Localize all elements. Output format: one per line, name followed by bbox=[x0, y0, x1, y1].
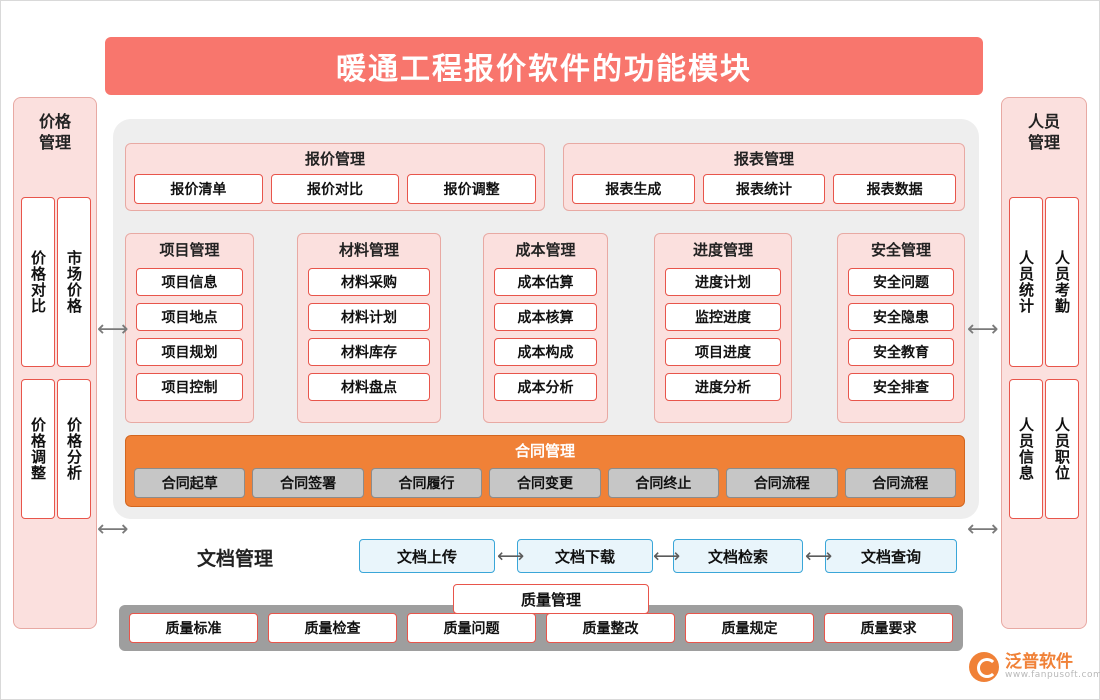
node-schedule-analysis[interactable]: 进度分析 bbox=[665, 373, 781, 401]
group-title: 进度管理 bbox=[655, 234, 791, 260]
page-title: 暖通工程报价软件的功能模块 bbox=[105, 37, 983, 95]
arrow-doc-1-icon: ⟷ bbox=[497, 547, 524, 566]
node-contract-flow-1[interactable]: 合同流程 bbox=[726, 468, 837, 498]
node-material-purchase[interactable]: 材料采购 bbox=[308, 268, 430, 296]
arrow-right-middle-icon: ⟷ bbox=[967, 319, 999, 341]
node-schedule-plan[interactable]: 进度计划 bbox=[665, 268, 781, 296]
node-document-upload[interactable]: 文档上传 bbox=[359, 539, 495, 573]
group-title: 合同管理 bbox=[126, 436, 964, 461]
node-safety-issue[interactable]: 安全问题 bbox=[848, 268, 954, 296]
group-title: 项目管理 bbox=[126, 234, 253, 260]
node-project-info[interactable]: 项目信息 bbox=[136, 268, 243, 296]
node-contract-perform[interactable]: 合同履行 bbox=[371, 468, 482, 498]
node-contract-terminate[interactable]: 合同终止 bbox=[608, 468, 719, 498]
group-items: 合同起草 合同签署 合同履行 合同变更 合同终止 合同流程 合同流程 bbox=[134, 468, 956, 498]
diagram-canvas: 暖通工程报价软件的功能模块 报价管理 报价清单 报价对比 报价调整 报表管理 报… bbox=[0, 0, 1100, 700]
node-personnel-info[interactable]: 人员信息 bbox=[1009, 379, 1043, 519]
node-project-planning[interactable]: 项目规划 bbox=[136, 338, 243, 366]
node-material-plan[interactable]: 材料计划 bbox=[308, 303, 430, 331]
arrow-doc-3-icon: ⟷ bbox=[805, 547, 832, 566]
node-personnel-attendance[interactable]: 人员考勤 bbox=[1045, 197, 1079, 367]
price-management-title-line1: 价格 bbox=[17, 111, 93, 132]
group-items: 安全问题 安全隐患 安全教育 安全排查 bbox=[848, 268, 954, 401]
node-contract-flow-2[interactable]: 合同流程 bbox=[845, 468, 956, 498]
node-quote-list[interactable]: 报价清单 bbox=[134, 174, 263, 204]
node-safety-inspection[interactable]: 安全排查 bbox=[848, 373, 954, 401]
node-project-location[interactable]: 项目地点 bbox=[136, 303, 243, 331]
node-price-adjust[interactable]: 价格调整 bbox=[21, 379, 55, 519]
group-schedule-management: 进度管理 进度计划 监控进度 项目进度 进度分析 bbox=[654, 233, 792, 423]
logo-text: 泛普软件 www.fanpusoft.com bbox=[1005, 653, 1100, 682]
node-report-generate[interactable]: 报表生成 bbox=[572, 174, 695, 204]
group-title: 成本管理 bbox=[484, 234, 607, 260]
node-cost-estimate[interactable]: 成本估算 bbox=[494, 268, 597, 296]
group-items: 报价清单 报价对比 报价调整 bbox=[134, 174, 536, 204]
node-schedule-monitor[interactable]: 监控进度 bbox=[665, 303, 781, 331]
node-quality-rectify[interactable]: 质量整改 bbox=[546, 613, 675, 643]
node-quality-check[interactable]: 质量检查 bbox=[268, 613, 397, 643]
group-items: 项目信息 项目地点 项目规划 项目控制 bbox=[136, 268, 243, 401]
node-document-download[interactable]: 文档下载 bbox=[517, 539, 653, 573]
group-items: 成本估算 成本核算 成本构成 成本分析 bbox=[494, 268, 597, 401]
group-items: 报表生成 报表统计 报表数据 bbox=[572, 174, 956, 204]
node-safety-education[interactable]: 安全教育 bbox=[848, 338, 954, 366]
arrow-left-lower-icon: ⟷ bbox=[97, 519, 129, 541]
personnel-management-title-line1: 人员 bbox=[1005, 111, 1083, 132]
group-project-management: 项目管理 项目信息 项目地点 项目规划 项目控制 bbox=[125, 233, 254, 423]
node-material-stocktake[interactable]: 材料盘点 bbox=[308, 373, 430, 401]
personnel-management-title-line2: 管理 bbox=[1005, 132, 1083, 153]
node-cost-accounting[interactable]: 成本核算 bbox=[494, 303, 597, 331]
quality-management-title: 质量管理 bbox=[453, 584, 649, 614]
group-quote-management: 报价管理 报价清单 报价对比 报价调整 bbox=[125, 143, 545, 211]
node-report-data[interactable]: 报表数据 bbox=[833, 174, 956, 204]
node-cost-analysis[interactable]: 成本分析 bbox=[494, 373, 597, 401]
node-price-compare[interactable]: 价格对比 bbox=[21, 197, 55, 367]
node-cost-composition[interactable]: 成本构成 bbox=[494, 338, 597, 366]
logo-sub-text: www.fanpusoft.com bbox=[1005, 671, 1100, 681]
node-quote-adjust[interactable]: 报价调整 bbox=[407, 174, 536, 204]
logo-main-text: 泛普软件 bbox=[1005, 653, 1100, 672]
node-contract-change[interactable]: 合同变更 bbox=[489, 468, 600, 498]
group-material-management: 材料管理 材料采购 材料计划 材料库存 材料盘点 bbox=[297, 233, 441, 423]
group-items: 质量标准 质量检查 质量问题 质量整改 质量规定 质量要求 bbox=[129, 613, 953, 643]
group-items: 进度计划 监控进度 项目进度 进度分析 bbox=[665, 268, 781, 401]
node-document-query[interactable]: 文档查询 bbox=[825, 539, 957, 573]
node-market-price[interactable]: 市场价格 bbox=[57, 197, 91, 367]
group-title: 安全管理 bbox=[838, 234, 964, 260]
node-quality-standard[interactable]: 质量标准 bbox=[129, 613, 258, 643]
node-quality-issue[interactable]: 质量问题 bbox=[407, 613, 536, 643]
node-personnel-position[interactable]: 人员职位 bbox=[1045, 379, 1079, 519]
group-safety-management: 安全管理 安全问题 安全隐患 安全教育 安全排查 bbox=[837, 233, 965, 423]
group-title: 报表管理 bbox=[564, 144, 964, 169]
node-quality-requirement[interactable]: 质量要求 bbox=[824, 613, 953, 643]
node-price-analysis[interactable]: 价格分析 bbox=[57, 379, 91, 519]
node-material-inventory[interactable]: 材料库存 bbox=[308, 338, 430, 366]
node-document-search[interactable]: 文档检索 bbox=[673, 539, 803, 573]
group-cost-management: 成本管理 成本估算 成本核算 成本构成 成本分析 bbox=[483, 233, 608, 423]
group-report-management: 报表管理 报表生成 报表统计 报表数据 bbox=[563, 143, 965, 211]
arrow-left-middle-icon: ⟷ bbox=[97, 319, 129, 341]
node-contract-sign[interactable]: 合同签署 bbox=[252, 468, 363, 498]
node-report-statistics[interactable]: 报表统计 bbox=[703, 174, 826, 204]
logo-mark-icon bbox=[969, 652, 999, 682]
arrow-doc-2-icon: ⟷ bbox=[653, 547, 680, 566]
price-management-title-line2: 管理 bbox=[17, 132, 93, 153]
arrow-right-lower-icon: ⟷ bbox=[967, 519, 999, 541]
group-title: 报价管理 bbox=[126, 144, 544, 169]
node-quality-regulation[interactable]: 质量规定 bbox=[685, 613, 814, 643]
document-management-label: 文档管理 bbox=[197, 544, 273, 571]
node-safety-hazard[interactable]: 安全隐患 bbox=[848, 303, 954, 331]
node-project-progress[interactable]: 项目进度 bbox=[665, 338, 781, 366]
node-quote-compare[interactable]: 报价对比 bbox=[271, 174, 400, 204]
brand-logo: 泛普软件 www.fanpusoft.com bbox=[969, 641, 1089, 693]
group-title: 材料管理 bbox=[298, 234, 440, 260]
group-contract-management: 合同管理 合同起草 合同签署 合同履行 合同变更 合同终止 合同流程 合同流程 bbox=[125, 435, 965, 507]
node-contract-draft[interactable]: 合同起草 bbox=[134, 468, 245, 498]
node-project-control[interactable]: 项目控制 bbox=[136, 373, 243, 401]
group-items: 材料采购 材料计划 材料库存 材料盘点 bbox=[308, 268, 430, 401]
node-personnel-statistics[interactable]: 人员统计 bbox=[1009, 197, 1043, 367]
